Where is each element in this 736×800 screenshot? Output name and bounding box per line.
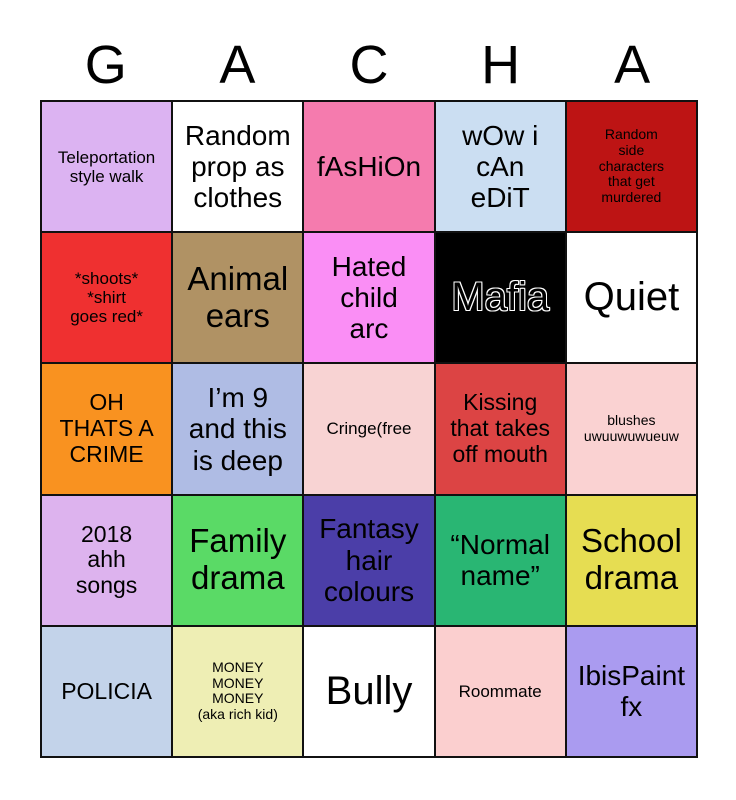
bingo-cell-label: Kissing that takes off mouth xyxy=(439,390,562,467)
bingo-cell-label: Family drama xyxy=(176,523,299,597)
bingo-cell[interactable]: Cringe(free xyxy=(304,364,435,495)
bingo-cell[interactable]: “Normal name” xyxy=(436,496,567,627)
bingo-cell-label: School drama xyxy=(570,523,693,597)
bingo-cell[interactable]: Quiet xyxy=(567,233,698,364)
bingo-cell-label: Random side characters that get murdered xyxy=(570,127,693,205)
bingo-cell-label: Fantasy hair colours xyxy=(307,513,430,607)
bingo-cell-label: fAsHiOn xyxy=(307,151,430,182)
bingo-cell[interactable]: 2018 ahh songs xyxy=(42,496,173,627)
bingo-cell-label: blushes uwuuwuwueuw xyxy=(570,413,693,444)
bingo-cell[interactable]: POLICIA xyxy=(42,627,173,758)
bingo-cell[interactable]: Roommate xyxy=(436,627,567,758)
bingo-header-letter-1: G xyxy=(40,34,172,96)
bingo-cell[interactable]: blushes uwuuwuwueuw xyxy=(567,364,698,495)
bingo-cell-label: MONEY MONEY MONEY (aka rich kid) xyxy=(176,660,299,723)
bingo-cell[interactable]: Random prop as clothes xyxy=(173,102,304,233)
bingo-header-letters: G A C H A xyxy=(40,34,698,96)
bingo-header-letter-3: C xyxy=(303,34,435,96)
bingo-cell[interactable]: School drama xyxy=(567,496,698,627)
bingo-cell-label: Roommate xyxy=(439,682,562,701)
bingo-cell[interactable]: Fantasy hair colours xyxy=(304,496,435,627)
bingo-cell[interactable]: Teleportation style walk xyxy=(42,102,173,233)
bingo-cell[interactable]: Kissing that takes off mouth xyxy=(436,364,567,495)
bingo-cell[interactable]: Random side characters that get murdered xyxy=(567,102,698,233)
bingo-cell-label: Quiet xyxy=(570,275,693,320)
bingo-cell-label: Bully xyxy=(307,669,430,714)
bingo-cell-label: Teleportation style walk xyxy=(45,148,168,186)
bingo-cell-label: Random prop as clothes xyxy=(176,120,299,214)
bingo-cell-label: Mafia xyxy=(439,275,562,320)
bingo-cell[interactable]: MONEY MONEY MONEY (aka rich kid) xyxy=(173,627,304,758)
bingo-cell[interactable]: Hated child arc xyxy=(304,233,435,364)
bingo-cell[interactable]: OH THATS A CRIME xyxy=(42,364,173,495)
bingo-cell-label: Cringe(free xyxy=(307,419,430,438)
bingo-grid: Teleportation style walkRandom prop as c… xyxy=(40,100,698,758)
bingo-cell[interactable]: Family drama xyxy=(173,496,304,627)
bingo-cell-label: 2018 ahh songs xyxy=(45,522,168,599)
bingo-cell-label: I’m 9 and this is deep xyxy=(176,382,299,476)
bingo-cell[interactable]: Animal ears xyxy=(173,233,304,364)
bingo-cell[interactable]: wOw i cAn eDiT xyxy=(436,102,567,233)
bingo-cell-label: wOw i cAn eDiT xyxy=(439,120,562,214)
bingo-card: G A C H A Teleportation style walkRandom… xyxy=(0,0,736,800)
bingo-cell-label: OH THATS A CRIME xyxy=(45,390,168,467)
bingo-cell-label: *shoots* *shirt goes red* xyxy=(45,269,168,326)
bingo-cell-label: Hated child arc xyxy=(307,251,430,345)
bingo-cell[interactable]: fAsHiOn xyxy=(304,102,435,233)
bingo-cell[interactable]: *shoots* *shirt goes red* xyxy=(42,233,173,364)
bingo-cell[interactable]: I’m 9 and this is deep xyxy=(173,364,304,495)
bingo-cell[interactable]: Mafia xyxy=(436,233,567,364)
bingo-cell[interactable]: IbisPaint fx xyxy=(567,627,698,758)
bingo-cell-label: “Normal name” xyxy=(439,529,562,592)
bingo-header-letter-2: A xyxy=(172,34,304,96)
bingo-header-letter-5: A xyxy=(566,34,698,96)
bingo-header-letter-4: H xyxy=(435,34,567,96)
bingo-cell-label: IbisPaint fx xyxy=(570,660,693,723)
bingo-cell-label: POLICIA xyxy=(45,679,168,705)
bingo-cell[interactable]: Bully xyxy=(304,627,435,758)
bingo-cell-label: Animal ears xyxy=(176,261,299,335)
